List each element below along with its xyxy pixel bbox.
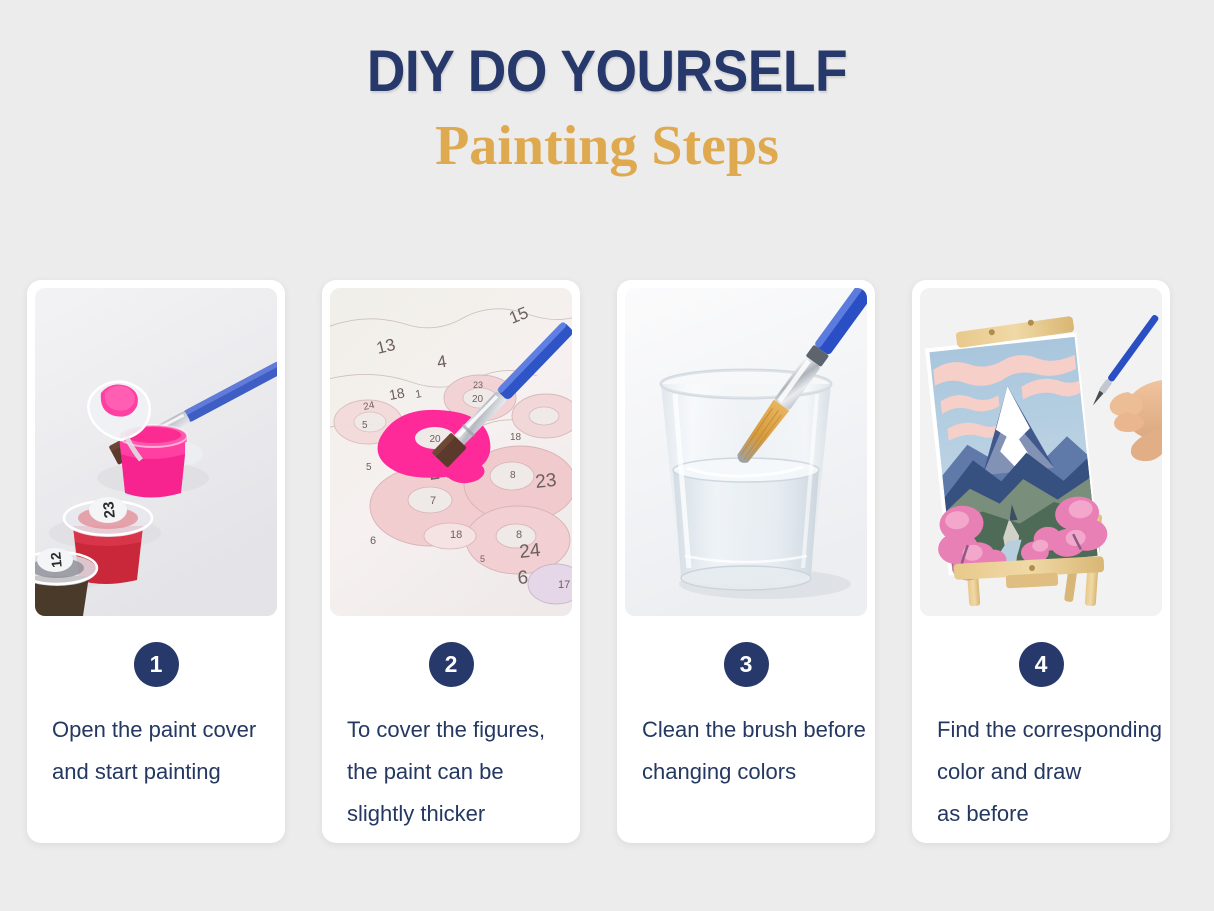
svg-text:5: 5 [366, 462, 372, 473]
step-badge-4: 4 [1019, 642, 1064, 687]
caption-line: the paint can be [347, 751, 572, 793]
caption-line: Open the paint cover [52, 709, 277, 751]
caption-line: and start painting [52, 751, 277, 793]
svg-text:18: 18 [388, 384, 406, 402]
finished-painting-on-easel-photo [920, 288, 1162, 616]
step-badge-1: 1 [134, 642, 179, 687]
svg-text:24: 24 [518, 540, 542, 563]
svg-text:5: 5 [362, 420, 368, 431]
svg-text:6: 6 [370, 535, 376, 547]
svg-text:6: 6 [517, 567, 529, 589]
page-title: DIY DO YOURSELF [49, 0, 1166, 103]
svg-text:23: 23 [534, 470, 557, 493]
step-badge-2: 2 [429, 642, 474, 687]
caption-line: changing colors [642, 751, 867, 793]
step-caption-4: Find the corresponding color and draw as… [920, 709, 1162, 834]
caption-line: Clean the brush before [642, 709, 867, 751]
svg-text:17: 17 [558, 579, 570, 591]
paint-pots-with-brush-photo: 23 12 [35, 288, 277, 616]
svg-text:8: 8 [510, 470, 516, 481]
heading-block: DIY DO YOURSELF Painting Steps [0, 0, 1214, 176]
step-card-3: 3 Clean the brush before changing colors [617, 280, 875, 843]
svg-text:8: 8 [516, 529, 522, 541]
step-caption-2: To cover the figures, the paint can be s… [330, 709, 572, 834]
svg-text:23: 23 [473, 380, 483, 390]
step-caption-1: Open the paint cover and start painting [35, 709, 277, 793]
step-badge-3: 3 [724, 642, 769, 687]
svg-text:23: 23 [100, 501, 119, 519]
diy-painting-steps-infographic: DIY DO YOURSELF Painting Steps [0, 0, 1214, 911]
caption-line: Find the corresponding [937, 709, 1162, 751]
brush-in-water-glass-photo [625, 288, 867, 616]
step-card-2: 13 4 15 18 1 24 5 20 23 18 5 2 24 8 [322, 280, 580, 843]
paint-by-numbers-canvas-photo: 13 4 15 18 1 24 5 20 23 18 5 2 24 8 [330, 288, 572, 616]
svg-text:7: 7 [430, 495, 436, 507]
svg-text:5: 5 [480, 554, 485, 564]
step-card-4: 4 Find the corresponding color and draw … [912, 280, 1170, 843]
step-caption-3: Clean the brush before changing colors [625, 709, 867, 793]
caption-line: color and draw [937, 751, 1162, 793]
caption-line: as before [937, 793, 1162, 835]
svg-text:20: 20 [429, 434, 441, 445]
page-subtitle: Painting Steps [0, 103, 1214, 176]
step-card-1: 23 12 1 Open the paint cover and st [27, 280, 285, 843]
caption-line: slightly thicker [347, 793, 572, 835]
svg-text:12: 12 [47, 551, 65, 568]
svg-text:18: 18 [450, 529, 462, 541]
caption-line: To cover the figures, [347, 709, 572, 751]
svg-text:20: 20 [472, 394, 484, 405]
steps-card-row: 23 12 1 Open the paint cover and st [27, 280, 1187, 843]
svg-text:18: 18 [510, 432, 522, 443]
